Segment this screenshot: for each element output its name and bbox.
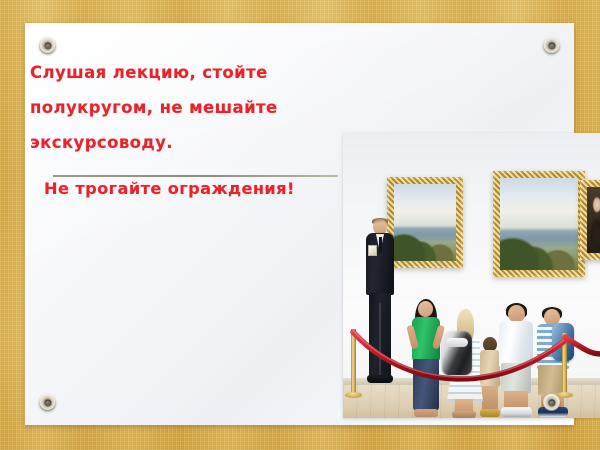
rope-highlight: [353, 331, 567, 378]
text-line-2: полукругом, не мешайте: [30, 90, 330, 125]
velvet-rope-barrier: [343, 313, 600, 418]
text-line-1: Слушая лекцию, стойте: [30, 55, 330, 90]
portrait-artwork: [587, 187, 600, 253]
grommet-screw-icon: [39, 394, 56, 411]
grommet-screw-icon: [543, 37, 560, 54]
museum-photo: [343, 133, 600, 418]
slide-text-block: Слушая лекцию, стойте полукругом, не меш…: [30, 55, 330, 206]
grommet-screw-icon: [39, 37, 56, 54]
guard-necktie: [379, 237, 383, 253]
painting-canvas: [394, 184, 456, 261]
rope-span-main: [353, 332, 567, 379]
guard-name-badge: [368, 245, 377, 256]
landscape-artwork: [394, 184, 456, 261]
painting-portrait-far-right: [580, 180, 600, 260]
text-line-3: экскурсоводу.: [30, 125, 330, 160]
slide-canvas: Слушая лекцию, стойте полукругом, не меш…: [0, 0, 600, 450]
white-board: Слушая лекцию, стойте полукругом, не меш…: [25, 23, 574, 425]
grommet-screw-icon: [543, 394, 560, 411]
painting-landscape-left: [387, 177, 463, 268]
painting-canvas: [587, 187, 600, 253]
text-line-4: Не трогайте ограждения!: [30, 171, 330, 206]
painting-landscape-right: [493, 171, 585, 277]
landscape-artwork: [500, 178, 578, 270]
rope-span-right: [565, 337, 600, 354]
painting-canvas: [500, 178, 578, 270]
